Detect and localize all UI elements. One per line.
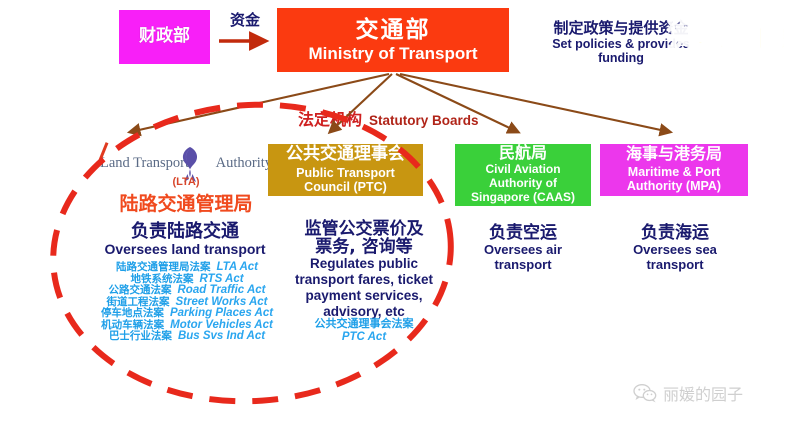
node-civil-aviation-authority[interactable]: 民航局 Civil Aviation Authority of Singapor…: [455, 144, 591, 206]
description-caas: 负责空运 Oversees air transport: [460, 224, 586, 273]
act-cn: 机动车辆法案: [101, 320, 164, 331]
wechat-bubble-icon: [633, 383, 657, 403]
act-en: LTA Act: [216, 262, 258, 274]
lta-wordmark-right: Authority: [216, 155, 272, 172]
list-item: 公路交通法案 Road Traffic Act: [88, 285, 286, 297]
edge-label-statutory-boards: 法定机构 Statutory Boards: [298, 106, 479, 130]
act-cn: 陆路交通管理局法案: [116, 262, 211, 273]
act-cn: 公共交通理事会法案: [288, 315, 440, 331]
mpa-desc-en-line2: transport: [608, 258, 742, 272]
ptc-label-en-line2: Council (PTC): [304, 180, 387, 194]
watermark-wechat-text: 丽媛的园子: [663, 381, 743, 405]
list-item: 陆路交通管理局法案 LTA Act: [88, 262, 286, 274]
act-cn: 地铁系统法案: [130, 274, 193, 285]
acts-list-lta: 陆路交通管理局法案 LTA Act 地铁系统法案 RTS Act 公路交通法案 …: [88, 262, 286, 343]
caas-desc-cn: 负责空运: [460, 224, 586, 242]
watermark-news: 狮城新闻: [667, 11, 787, 55]
mot-label-en: Ministry of Transport: [308, 45, 477, 63]
node-maritime-port-authority[interactable]: 海事与港务局 Maritime & Port Authority (MPA): [600, 144, 748, 196]
caas-label-en-line1: Civil Aviation: [485, 163, 560, 177]
description-mpa: 负责海运 Oversees sea transport: [608, 224, 742, 273]
act-en: Bus Svs Ind Act: [178, 331, 265, 343]
ptc-desc-en-line2: transport fares, ticket: [288, 273, 440, 288]
caas-label-en-line2: Authority of: [489, 177, 557, 191]
act-cn: 公路交通法案: [109, 285, 172, 296]
mof-label-cn: 财政部: [139, 28, 190, 46]
mpa-desc-en-line1: Oversees sea: [608, 243, 742, 257]
ptc-desc-en-line3: payment services,: [288, 289, 440, 304]
edge-label-funding: 资金: [214, 9, 276, 30]
caas-desc-en-line2: transport: [460, 258, 586, 272]
lta-desc-cn: 负责陆路交通: [82, 222, 288, 241]
act-en: PTC Act: [288, 331, 440, 343]
mpa-label-cn: 海事与港务局: [626, 146, 722, 163]
mpa-label-en-line2: Authority (MPA): [627, 179, 721, 193]
caas-label-cn: 民航局: [499, 145, 547, 162]
statutory-boards-en: Statutory Boards: [369, 113, 479, 128]
description-ptc: 监管公交票价及 票务, 咨询等 Regulates public transpo…: [288, 220, 440, 319]
act-cn: 停车地点法案: [101, 308, 164, 319]
act-en: Road Traffic Act: [178, 285, 266, 297]
caas-label-en-line3: Singapore (CAAS): [471, 191, 575, 205]
right-arrow-icon: [216, 30, 274, 52]
acts-list-ptc: 公共交通理事会法案 PTC Act: [288, 315, 440, 343]
list-item: 巴士行业法案 Bus Svs Ind Act: [88, 331, 286, 343]
ptc-desc-cn-line2: 票务, 咨询等: [288, 238, 440, 256]
mpa-desc-cn: 负责海运: [608, 224, 742, 242]
caas-desc-en-line1: Oversees air: [460, 243, 586, 257]
list-item: 停车地点法案 Parking Places Act: [88, 308, 286, 320]
node-ministry-of-finance[interactable]: 财政部: [119, 10, 210, 64]
lta-abbr: (LTA): [100, 176, 272, 188]
lta-desc-en: Oversees land transport: [82, 242, 288, 257]
description-lta: 负责陆路交通 Oversees land transport: [82, 222, 288, 257]
node-public-transport-council[interactable]: 公共交通理事会 Public Transport Council (PTC): [268, 144, 423, 196]
statutory-boards-cn: 法定机构: [298, 106, 362, 130]
ptc-label-en-line1: Public Transport: [296, 166, 395, 180]
ptc-desc-en-line1: Regulates public: [288, 257, 440, 272]
lta-label-cn: 陆路交通管理局: [95, 189, 277, 216]
mot-label-cn: 交通部: [356, 18, 431, 42]
ptc-desc-cn-line1: 监管公交票价及: [288, 220, 440, 238]
mpa-label-en-line1: Maritime & Port: [628, 165, 720, 179]
node-ministry-of-transport[interactable]: 交通部 Ministry of Transport: [277, 8, 509, 72]
act-en: Parking Places Act: [170, 308, 273, 320]
ptc-label-cn: 公共交通理事会: [286, 146, 405, 164]
watermark-wechat: 丽媛的园子: [633, 381, 743, 405]
diagram-canvas: 财政部 资金 交通部 Ministry of Transport 制定政策与提供…: [0, 0, 800, 425]
act-cn: 街道工程法案: [106, 297, 169, 308]
act-cn: 巴士行业法案: [109, 331, 172, 342]
